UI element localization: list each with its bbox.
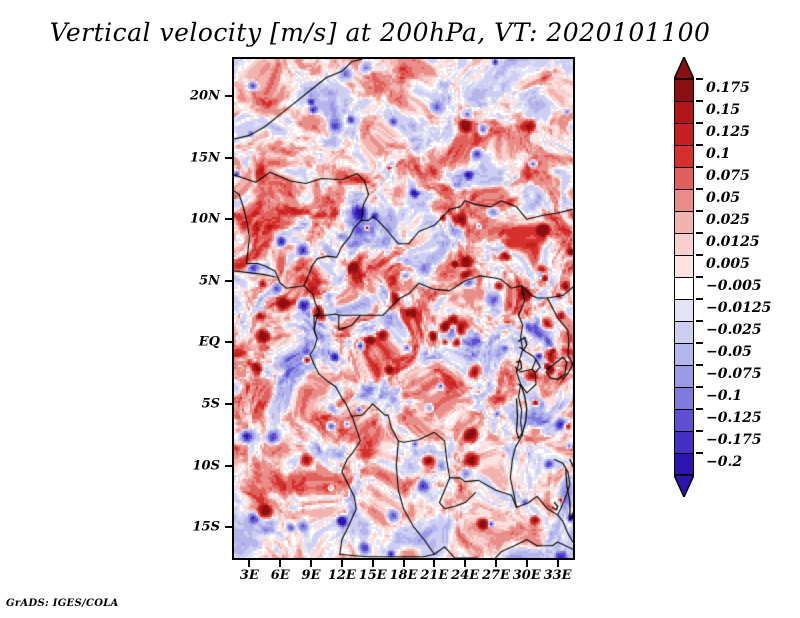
colorbar-label: 0.005 (706, 256, 750, 272)
colorbar-block (675, 145, 693, 167)
xtick-label-12E: 12E (328, 568, 356, 583)
colorbar-label: 0.025 (706, 212, 750, 228)
colorbar-label: 0.075 (706, 168, 750, 184)
xtick-mark (279, 560, 281, 567)
map-plot-area (232, 57, 575, 560)
colorbar-blocks (674, 79, 694, 475)
ytick-mark (225, 218, 232, 220)
colorbar-block (675, 79, 693, 101)
colorbar-block (675, 167, 693, 189)
ytick-label-10S: 10S (178, 458, 220, 473)
colorbar-block (675, 365, 693, 387)
xtick-label-30E: 30E (513, 568, 541, 583)
colorbar-tick (696, 232, 703, 234)
colorbar-tick (696, 144, 703, 146)
colorbar-tick (696, 452, 703, 454)
colorbar-label: −0.125 (706, 410, 762, 426)
ytick-label-EQ: EQ (178, 335, 220, 350)
colorbar-block (675, 123, 693, 145)
colorbar-label: 0.1 (706, 146, 730, 162)
ytick-label-20N: 20N (178, 88, 220, 103)
colorbar-label: −0.2 (706, 454, 742, 470)
ytick-mark (225, 403, 232, 405)
colorbar-tick (696, 78, 703, 80)
colorbar-block (675, 101, 693, 123)
xtick-label-3E: 3E (240, 568, 259, 583)
ytick-label-10N: 10N (178, 212, 220, 227)
xtick-mark (248, 560, 250, 567)
colorbar: 0.1750.150.1250.10.0750.050.0250.01250.0… (670, 57, 790, 567)
colorbar-block (675, 409, 693, 431)
colorbar-label: 0.05 (706, 190, 740, 206)
colorbar-block (675, 277, 693, 299)
colorbar-tick (696, 276, 703, 278)
ytick-mark (225, 526, 232, 528)
xtick-label-9E: 9E (302, 568, 321, 583)
ytick-label-15S: 15S (178, 520, 220, 535)
xtick-mark (310, 560, 312, 567)
colorbar-label: −0.025 (706, 322, 762, 338)
xtick-label-6E: 6E (271, 568, 290, 583)
colorbar-block (675, 211, 693, 233)
ytick-mark (225, 95, 232, 97)
colorbar-label: −0.05 (706, 344, 752, 360)
colorbar-tick (696, 122, 703, 124)
colorbar-block (675, 343, 693, 365)
xtick-mark (372, 560, 374, 567)
ytick-label-5N: 5N (178, 273, 220, 288)
colorbar-label: 0.0125 (706, 234, 760, 250)
colorbar-tick (696, 386, 703, 388)
colorbar-top-arrow-icon (674, 57, 694, 79)
colorbar-tick (696, 364, 703, 366)
colorbar-tick (696, 166, 703, 168)
colorbar-block (675, 431, 693, 453)
colorbar-tick (696, 408, 703, 410)
ytick-label-15N: 15N (178, 150, 220, 165)
colorbar-tick (696, 342, 703, 344)
colorbar-block (675, 233, 693, 255)
xtick-label-18E: 18E (390, 568, 418, 583)
xtick-mark (341, 560, 343, 567)
colorbar-tick (696, 210, 703, 212)
xtick-mark (495, 560, 497, 567)
colorbar-label: −0.175 (706, 432, 762, 448)
xtick-label-21E: 21E (420, 568, 448, 583)
colorbar-block (675, 453, 693, 475)
ytick-mark (225, 280, 232, 282)
ytick-mark (225, 157, 232, 159)
colorbar-block (675, 299, 693, 321)
xtick-mark (557, 560, 559, 567)
colorbar-tick (696, 188, 703, 190)
xtick-mark (464, 560, 466, 567)
colorbar-block (675, 255, 693, 277)
colorbar-block (675, 387, 693, 409)
colorbar-tick (696, 430, 703, 432)
xtick-mark (433, 560, 435, 567)
colorbar-label: −0.0125 (706, 300, 771, 316)
xtick-label-33E: 33E (544, 568, 572, 583)
colorbar-label: −0.1 (706, 388, 742, 404)
xtick-label-24E: 24E (451, 568, 479, 583)
ytick-mark (225, 465, 232, 467)
country-borders-overlay (234, 59, 573, 558)
colorbar-label: 0.15 (706, 102, 740, 118)
colorbar-label: 0.175 (706, 80, 750, 96)
xtick-label-15E: 15E (359, 568, 387, 583)
colorbar-tick (696, 298, 703, 300)
ytick-mark (225, 341, 232, 343)
colorbar-label: 0.125 (706, 124, 750, 140)
colorbar-label: −0.075 (706, 366, 762, 382)
colorbar-bottom-arrow-icon (674, 475, 694, 497)
xtick-mark (526, 560, 528, 567)
footer-credit: GrADS: IGES/COLA (6, 598, 119, 609)
xtick-mark (403, 560, 405, 567)
ytick-label-5S: 5S (178, 396, 220, 411)
colorbar-label: −0.005 (706, 278, 762, 294)
colorbar-block (675, 321, 693, 343)
colorbar-tick (696, 100, 703, 102)
xtick-label-27E: 27E (482, 568, 510, 583)
page-title: Vertical velocity [m/s] at 200hPa, VT: 2… (0, 18, 760, 47)
colorbar-tick (696, 320, 703, 322)
colorbar-tick (696, 254, 703, 256)
colorbar-block (675, 189, 693, 211)
